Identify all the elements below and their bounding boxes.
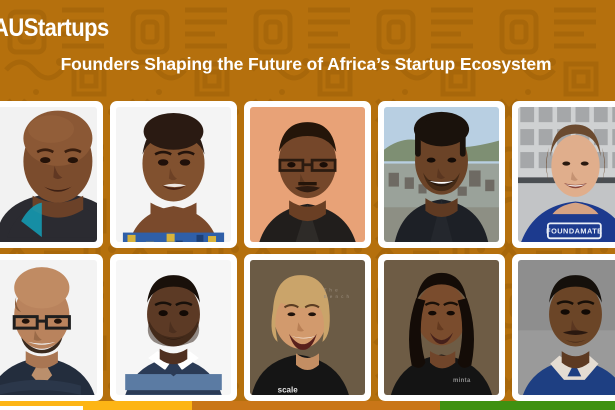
svg-text:scale: scale (278, 385, 299, 394)
founders-photo-grid: FOUNDAMATE (0, 101, 615, 401)
founder-card[interactable] (110, 101, 237, 248)
founder-card[interactable]: FOUNDAMATE (512, 101, 615, 248)
founder-photo-6 (0, 260, 97, 395)
bottom-bar-segment-orange (192, 401, 440, 410)
svg-text:minta: minta (453, 378, 471, 384)
founder-card[interactable]: T h e B e n c h scale (244, 254, 371, 401)
founder-card[interactable] (0, 254, 103, 401)
svg-text:T h e: T h e (324, 287, 339, 292)
founder-card[interactable] (378, 101, 505, 248)
founder-card[interactable] (0, 101, 103, 248)
founder-card[interactable] (110, 254, 237, 401)
bottom-bar-white-notch (0, 406, 83, 410)
svg-text:B e n c h: B e n c h (324, 294, 350, 299)
founder-photo-5: FOUNDAMATE (518, 107, 615, 242)
bottom-color-bar (0, 401, 615, 410)
founder-photo-2 (116, 107, 231, 242)
founder-photo-4 (384, 107, 499, 242)
poster-canvas: AUStartups Founders Shaping the Future o… (0, 0, 615, 410)
founder-photo-7 (116, 260, 231, 395)
founder-photo-9: minta (384, 260, 499, 395)
founder-photo-3 (250, 107, 365, 242)
brand-logo: AUStartups (0, 14, 109, 43)
founder-card[interactable] (244, 101, 371, 248)
poster-header: AUStartups Founders Shaping the Future o… (0, 0, 615, 100)
bottom-bar-segment-green (440, 401, 615, 410)
page-title: Founders Shaping the Future of Africa’s … (0, 54, 615, 75)
founder-photo-1 (0, 107, 97, 242)
founder-photo-10 (518, 260, 615, 395)
founder-card[interactable]: minta (378, 254, 505, 401)
svg-text:FOUNDAMATE: FOUNDAMATE (546, 227, 602, 236)
founder-photo-8: T h e B e n c h scale (250, 260, 365, 395)
founder-card[interactable] (512, 254, 615, 401)
